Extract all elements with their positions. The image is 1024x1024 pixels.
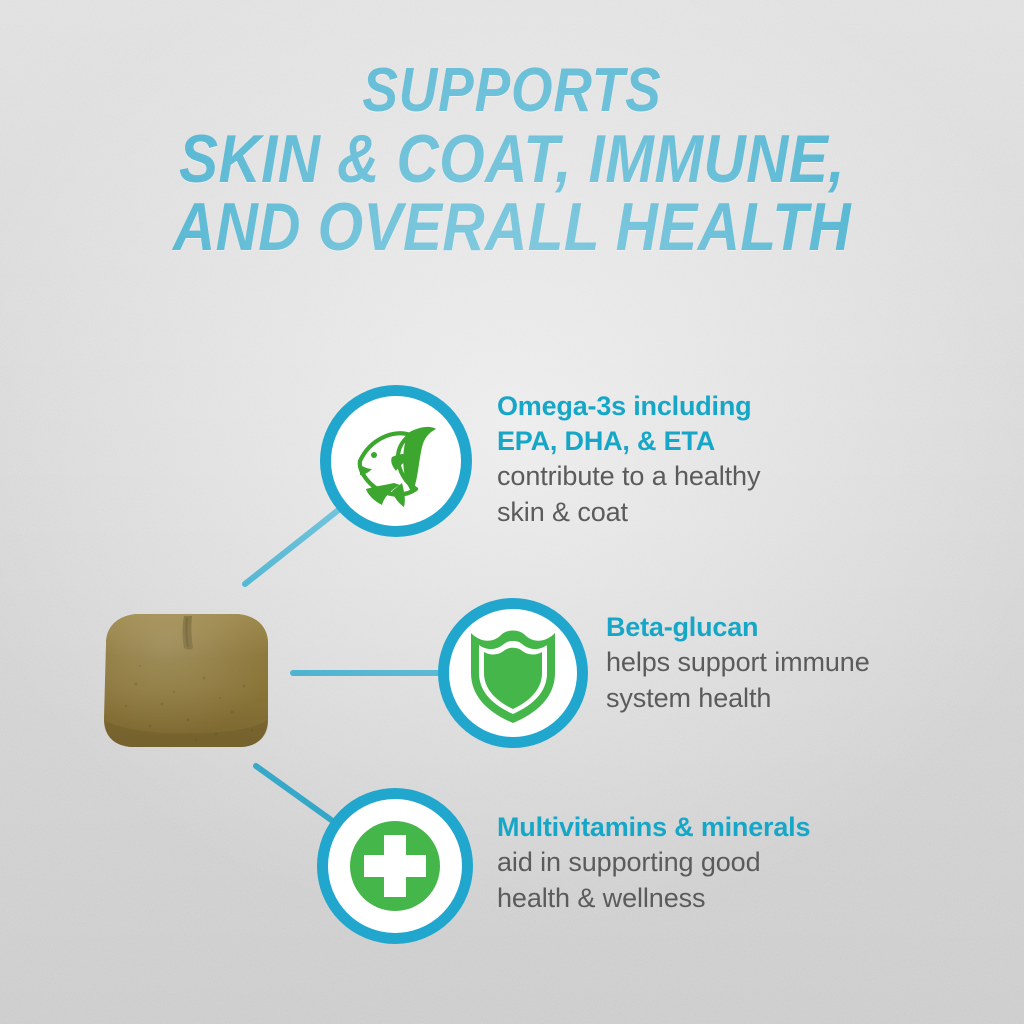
benefit-text-beta-glucan: Beta-glucan helps support immune system … [606,610,1006,716]
headline: SUPPORTS SKIN & COAT, IMMUNE, AND OVERAL… [0,62,1024,260]
benefit-text-multivitamins: Multivitamins & minerals aid in supporti… [497,810,957,916]
benefit-heading-beta-line1: Beta-glucan [606,610,1006,645]
headline-line-1: SUPPORTS [72,62,953,121]
benefit-heading-multi-line1: Multivitamins & minerals [497,810,957,845]
benefit-badge-beta-glucan[interactable] [438,598,588,748]
infographic-canvas: SUPPORTS SKIN & COAT, IMMUNE, AND OVERAL… [0,0,1024,1024]
benefit-heading-omega-line1: Omega-3s including [497,389,967,424]
benefit-badge-multivitamins[interactable] [317,788,473,944]
benefit-body-beta-line1: helps support immune [606,645,1006,681]
connector-line-omega [245,508,341,584]
benefit-text-omega: Omega-3s including EPA, DHA, & ETA contr… [497,389,967,530]
shield-icon [465,621,561,725]
product-chew-image [92,600,280,758]
fish-icon [344,409,448,513]
benefit-badge-omega[interactable] [320,385,472,537]
benefit-body-omega-line1: contribute to a healthy [497,459,967,495]
benefit-body-beta-line2: system health [606,681,1006,717]
benefit-heading-omega-line2: EPA, DHA, & ETA [497,424,967,459]
headline-line-3: AND OVERALL HEALTH [72,195,953,260]
headline-line-2: SKIN & COAT, IMMUNE, [72,127,953,192]
medical-cross-icon [342,813,448,919]
benefit-body-multi-line1: aid in supporting good [497,845,957,881]
benefit-body-omega-line2: skin & coat [497,495,967,531]
connector-line-multi [256,766,341,827]
benefit-body-multi-line2: health & wellness [497,881,957,917]
